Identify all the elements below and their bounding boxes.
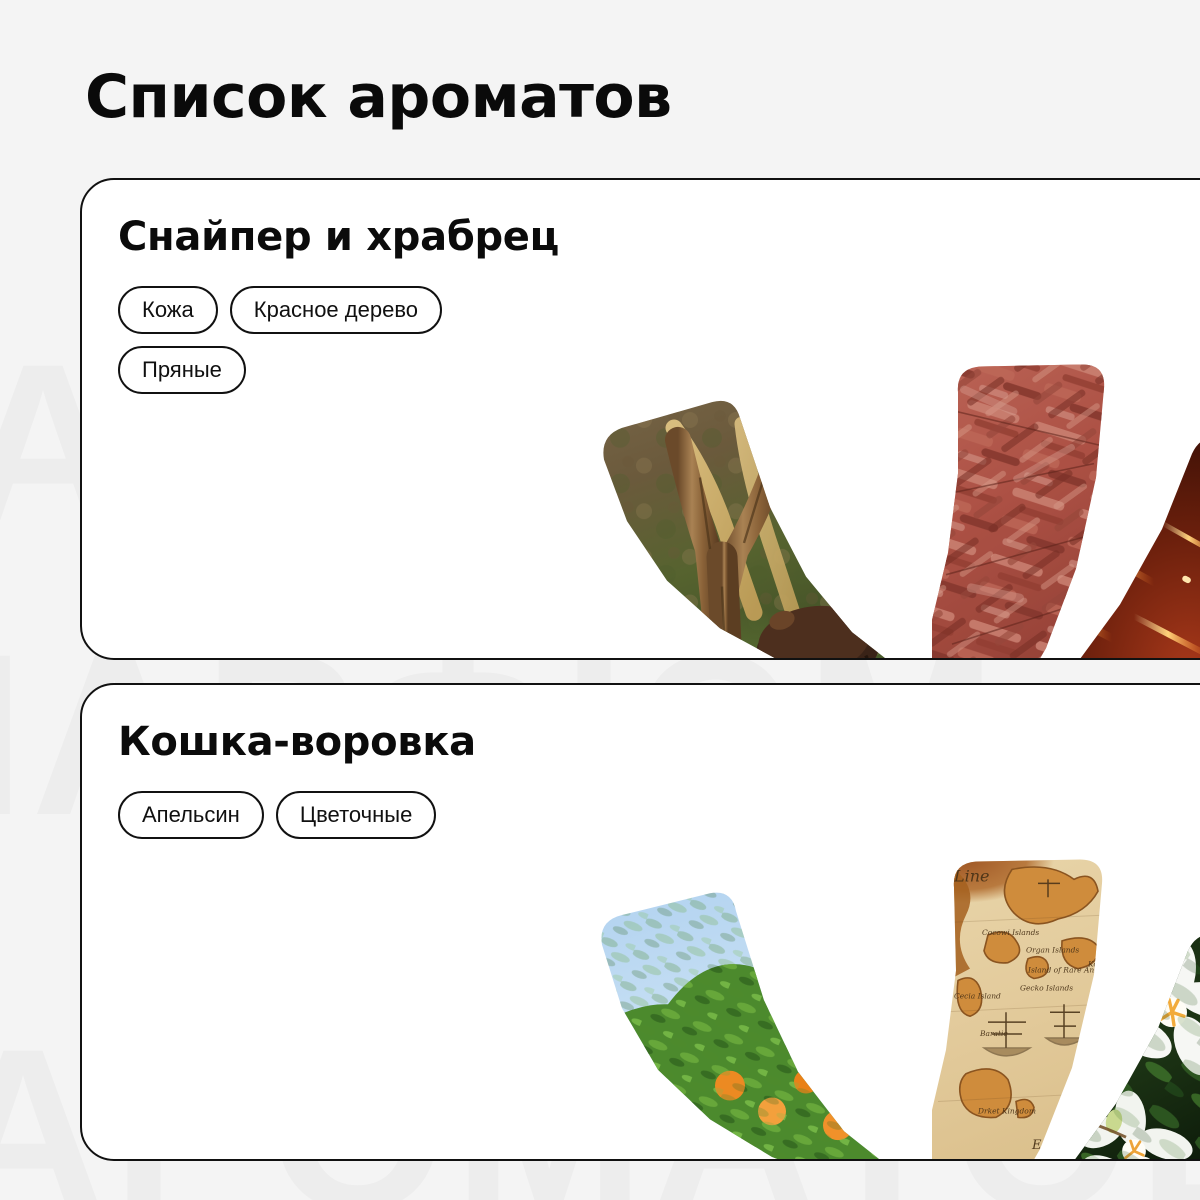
svg-text:Cecia Island: Cecia Island bbox=[954, 991, 1001, 1000]
svg-text:East Bl: East Bl bbox=[1031, 1138, 1079, 1153]
svg-text:Organ Islands: Organ Islands bbox=[1026, 946, 1079, 955]
map-ship-icon bbox=[984, 879, 1084, 1056]
wedge-fire-sparks bbox=[1002, 418, 1200, 658]
tag-chip[interactable]: Красное дерево bbox=[230, 286, 442, 334]
tag-chip[interactable]: Апельсин bbox=[118, 791, 264, 839]
card-1-header: Снайпер и храбрец Кожа Красное дерево Пр… bbox=[118, 214, 559, 394]
svg-text:Island of Rare Animals: Island of Rare Animals bbox=[1027, 966, 1115, 975]
wedge-treasure-map: Line Cocowi Islands Organ Islands Island… bbox=[932, 844, 1132, 1159]
orange-fruits bbox=[583, 1070, 895, 1159]
wedge-red-mahogany-mulch bbox=[932, 349, 1132, 658]
card-2-header: Кошка-воровка Апельсин Цветочные bbox=[118, 719, 476, 839]
blossom-flower bbox=[1075, 1089, 1197, 1159]
card-2-tag-list: Апельсин Цветочные bbox=[118, 791, 476, 839]
fragrance-card-sniper[interactable]: Снайпер и храбрец Кожа Красное дерево Пр… bbox=[80, 178, 1200, 660]
flower-buds bbox=[1060, 1084, 1125, 1152]
svg-text:Gecko Islands: Gecko Islands bbox=[1020, 983, 1073, 992]
tag-chip[interactable]: Пряные bbox=[118, 346, 246, 394]
fragrance-card-cat-burglar[interactable]: Line Cocowi Islands Organ Islands Island… bbox=[80, 683, 1200, 1161]
wedge-orange-blossom bbox=[1002, 913, 1200, 1159]
blossom-flower bbox=[1104, 938, 1200, 1081]
svg-text:Drket Kingdom: Drket Kingdom bbox=[977, 1106, 1036, 1115]
svg-text:Kosmate: Kosmate bbox=[1087, 960, 1121, 969]
wedge-leather-slingshot bbox=[562, 359, 962, 658]
svg-text:Cocowi Islands: Cocowi Islands bbox=[982, 928, 1039, 937]
svg-text:Baratie: Baratie bbox=[979, 1029, 1008, 1038]
tag-chip[interactable]: Цветочные bbox=[276, 791, 436, 839]
card-1-tag-list: Кожа Красное дерево Пряные bbox=[118, 286, 498, 394]
page-title: Список ароматов bbox=[85, 62, 672, 132]
card-title: Кошка-воровка bbox=[118, 719, 476, 765]
card-title: Снайпер и храбрец bbox=[118, 214, 559, 260]
svg-text:Line: Line bbox=[953, 866, 989, 885]
wedge-orange-tree bbox=[562, 844, 962, 1159]
tag-chip[interactable]: Кожа bbox=[118, 286, 218, 334]
